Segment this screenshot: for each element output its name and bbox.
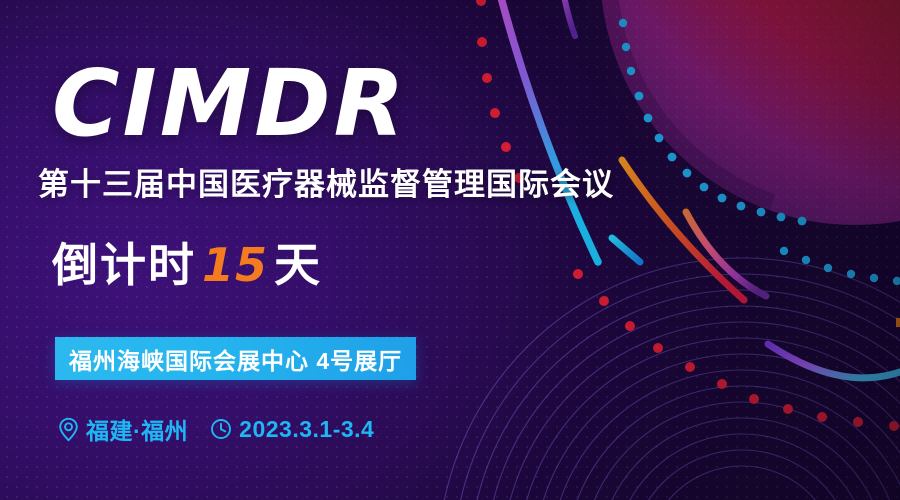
venue-badge-label: 福州海峡国际会展中心 4号展厅 bbox=[69, 342, 402, 376]
date-range-label: 2023.3.1-3.4 bbox=[239, 416, 374, 443]
poster-content: CIMDR 第十三届中国医疗器械监督管理国际会议 倒计时15天 福州海峡国际会展… bbox=[0, 0, 900, 500]
meta-separator bbox=[188, 429, 210, 430]
location-label: 福建·福州 bbox=[86, 412, 188, 446]
countdown-days: 15 bbox=[196, 238, 274, 292]
countdown-prefix: 倒计时 bbox=[52, 239, 196, 291]
conference-countdown-poster: CIMDR 第十三届中国医疗器械监督管理国际会议 倒计时15天 福州海峡国际会展… bbox=[0, 0, 900, 500]
venue-badge: 福州海峡国际会展中心 4号展厅 bbox=[55, 337, 416, 380]
brand-title: CIMDR bbox=[52, 58, 408, 150]
conference-subtitle: 第十三届中国医疗器械监督管理国际会议 bbox=[38, 168, 614, 202]
countdown-suffix: 天 bbox=[274, 239, 322, 291]
countdown-line: 倒计时15天 bbox=[52, 242, 322, 288]
meta-line: 福建·福州 2023.3.1-3.4 bbox=[58, 412, 374, 446]
clock-icon bbox=[210, 418, 232, 440]
location-pin-icon bbox=[58, 417, 79, 442]
